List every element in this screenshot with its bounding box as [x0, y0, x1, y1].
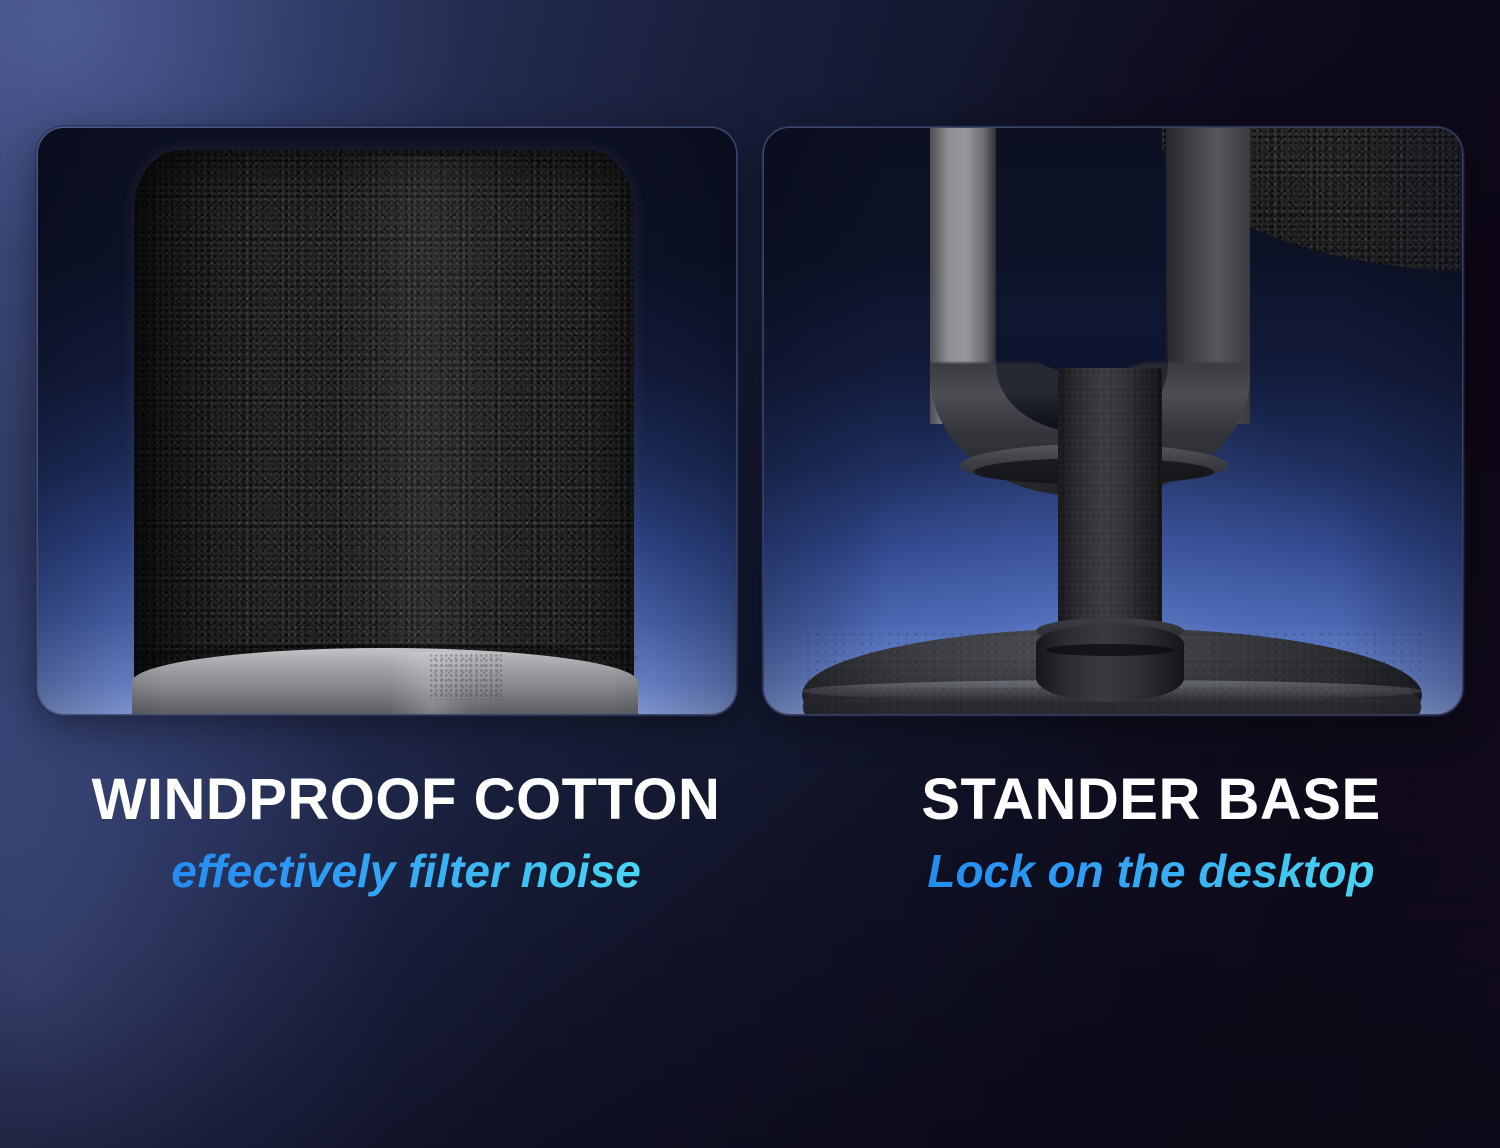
stand-post-texture: [1058, 368, 1162, 650]
mic-metal-band: [132, 648, 638, 714]
feature-card-stander-base[interactable]: [764, 128, 1462, 714]
panel-title: STANDER BASE: [802, 770, 1500, 830]
caption-row: WINDPROOF COTTON effectively filter nois…: [0, 770, 1500, 897]
caption-windproof-cotton: WINDPROOF COTTON effectively filter nois…: [38, 770, 774, 897]
caption-stander-base: STANDER BASE Lock on the desktop: [802, 770, 1500, 897]
panel-title: WINDPROOF COTTON: [38, 770, 774, 830]
feature-card-windproof-cotton[interactable]: [38, 128, 736, 714]
mic-band-texture: [430, 654, 502, 700]
foam-highlight: [338, 156, 528, 686]
feature-banner: WINDPROOF COTTON effectively filter nois…: [0, 0, 1500, 1148]
panel-subtitle: Lock on the desktop: [802, 846, 1500, 897]
foam-left-shadow: [134, 150, 264, 690]
panel-subtitle: effectively filter noise: [38, 846, 774, 897]
stand-collar: [1036, 624, 1184, 702]
stand-collar-seam: [1046, 644, 1174, 656]
